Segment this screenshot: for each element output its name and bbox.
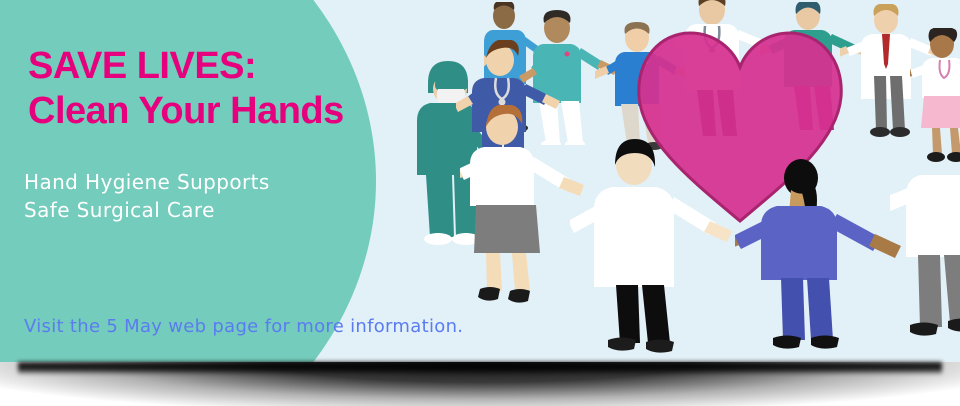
page-root: SAVE LIVES: Clean Your Hands Hand Hygien… bbox=[0, 0, 960, 406]
figure-worker-periwinkle-scrubs bbox=[735, 150, 915, 360]
page-title: SAVE LIVES: Clean Your Hands bbox=[28, 44, 344, 134]
headline-line-1: SAVE LIVES: bbox=[28, 45, 256, 87]
figure-worker-pink-skirt bbox=[910, 28, 960, 168]
banner-subtitle: Hand Hygiene Supports Safe Surgical Care bbox=[24, 168, 270, 224]
figure-doctor-grey-trousers bbox=[890, 155, 960, 355]
figure-doctor-white-coat-front bbox=[570, 135, 740, 355]
subtitle-line-1: Hand Hygiene Supports bbox=[24, 168, 270, 196]
subtitle-line-2: Safe Surgical Care bbox=[24, 196, 270, 224]
web-page-link[interactable]: Visit the 5 May web page for more inform… bbox=[24, 316, 463, 337]
campaign-banner: SAVE LIVES: Clean Your Hands Hand Hygien… bbox=[0, 0, 960, 362]
headline-line-2: Clean Your Hands bbox=[28, 89, 344, 134]
banner-drop-shadow bbox=[0, 362, 960, 406]
banner-text-block: SAVE LIVES: Clean Your Hands Hand Hygien… bbox=[0, 0, 430, 362]
